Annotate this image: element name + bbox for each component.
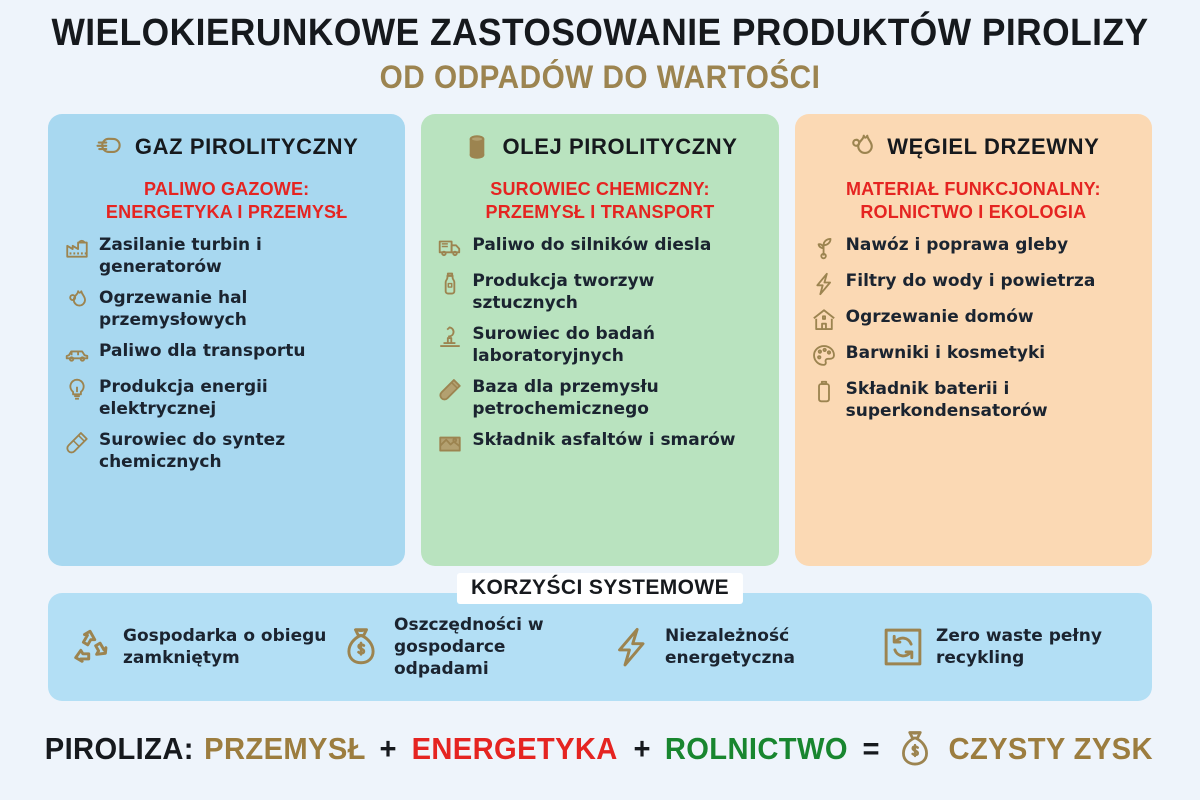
factory-icon xyxy=(64,235,90,261)
list-item[interactable]: Paliwo dla transportu xyxy=(64,340,389,367)
palette-icon xyxy=(811,343,837,369)
truck-icon xyxy=(437,235,463,261)
benefit-item[interactable]: Zero waste pełny recykling xyxy=(871,625,1142,669)
list-item[interactable]: Surowiec do syntez chemicznych xyxy=(64,429,389,473)
list-item[interactable]: Zasilanie turbin i generatorów xyxy=(64,234,389,278)
list-item-label: Ogrzewanie domów xyxy=(846,306,1034,328)
list-item[interactable]: Filtry do wody i powietrza xyxy=(811,270,1136,297)
card-item-list: Zasilanie turbin i generatorów Ogrzewani… xyxy=(64,234,389,473)
footer-result: CZYSTY ZYSK xyxy=(949,731,1153,767)
list-item-label: Składnik baterii i superkondensatorów xyxy=(846,378,1136,422)
list-item[interactable]: Składnik asfaltów i smarów xyxy=(437,429,762,456)
list-item[interactable]: Nawóz i poprawa gleby xyxy=(811,234,1136,261)
list-item-label: Zasilanie turbin i generatorów xyxy=(99,234,389,278)
gas-cloud-icon xyxy=(95,132,125,162)
card-subtitle-line1: SUROWIEC CHEMICZNY: xyxy=(490,179,709,199)
footer-equals: = xyxy=(855,731,887,767)
card-item-list: Nawóz i poprawa gleby Filtry do wody i p… xyxy=(811,234,1136,422)
lightbulb-icon xyxy=(64,377,90,403)
test-tube-icon xyxy=(437,377,463,403)
footer-term-rolnictwo: ROLNICTWO xyxy=(665,731,848,767)
list-item-label: Produkcja tworzyw sztucznych xyxy=(472,270,762,314)
benefits-label: KORZYŚCI SYSTEMOWE xyxy=(457,573,743,604)
refresh-box-icon xyxy=(881,625,925,669)
list-item-label: Nawóz i poprawa gleby xyxy=(846,234,1068,256)
footer-term-energetyka: ENERGETYKA xyxy=(412,731,618,767)
card-wegiel-drzewny[interactable]: WĘGIEL DRZEWNY MATERIAŁ FUNKCJONALNY: RO… xyxy=(795,114,1152,566)
card-title: GAZ PIROLITYCZNY xyxy=(135,134,359,160)
oil-drum-icon xyxy=(462,132,492,162)
recycle-icon xyxy=(68,625,112,669)
card-title: OLEJ PIROLITYCZNY xyxy=(502,134,737,160)
page-title: WIELOKIERUNKOWE ZASTOSOWANIE PRODUKTÓW P… xyxy=(42,12,1158,54)
benefit-label: Oszczędności w gospodarce odpadami xyxy=(394,614,600,680)
page-subtitle: OD ODPADÓW DO WARTOŚCI xyxy=(42,58,1158,96)
list-item-label: Baza dla przemysłu petrochemicznego xyxy=(472,376,762,420)
list-item-label: Filtry do wody i powietrza xyxy=(846,270,1096,292)
benefit-label: Zero waste pełny recykling xyxy=(936,625,1142,669)
title-block: WIELOKIERUNKOWE ZASTOSOWANIE PRODUKTÓW P… xyxy=(0,12,1200,96)
bottle-icon xyxy=(437,271,463,297)
money-bag-icon xyxy=(339,625,383,669)
list-item[interactable]: Surowiec do badań laboratoryjnych xyxy=(437,323,762,367)
road-icon xyxy=(437,430,463,456)
card-header: OLEJ PIROLITYCZNY xyxy=(437,132,762,162)
battery-icon xyxy=(811,379,837,405)
microscope-icon xyxy=(437,324,463,350)
card-subtitle-line1: MATERIAŁ FUNKCJONALNY: xyxy=(846,179,1101,199)
card-olej-pirolityczny[interactable]: OLEJ PIROLITYCZNY SUROWIEC CHEMICZNY: PR… xyxy=(421,114,778,566)
list-item-label: Barwniki i kosmetyki xyxy=(846,342,1045,364)
list-item[interactable]: Składnik baterii i superkondensatorów xyxy=(811,378,1136,422)
benefit-label: Niezależność energetyczna xyxy=(665,625,871,669)
infographic-root: WIELOKIERUNKOWE ZASTOSOWANIE PRODUKTÓW P… xyxy=(0,0,1200,800)
card-subtitle: MATERIAŁ FUNKCJONALNY: ROLNICTWO I EKOLO… xyxy=(811,178,1136,224)
card-subtitle-line2: PRZEMYSŁ I TRANSPORT xyxy=(437,201,762,224)
card-subtitle: SUROWIEC CHEMICZNY: PRZEMYSŁ I TRANSPORT xyxy=(437,178,762,224)
charcoal-flame-icon xyxy=(847,132,877,162)
footer-equation: PIROLIZA: PRZEMYSŁ + ENERGETYKA + ROLNIC… xyxy=(0,728,1200,770)
footer-lead: PIROLIZA: xyxy=(45,731,194,767)
money-bag-icon xyxy=(894,728,936,770)
footer-term-przemysl: PRZEMYSŁ xyxy=(204,731,366,767)
benefit-item[interactable]: Gospodarka o obiegu zamkniętym xyxy=(58,625,329,669)
house-icon xyxy=(811,307,837,333)
lightning-icon xyxy=(811,271,837,297)
list-item[interactable]: Produkcja energii elektrycznej xyxy=(64,376,389,420)
card-subtitle: PALIWO GAZOWE: ENERGETYKA I PRZEMYSŁ xyxy=(64,178,389,224)
list-item-label: Surowiec do badań laboratoryjnych xyxy=(472,323,762,367)
list-item[interactable]: Produkcja tworzyw sztucznych xyxy=(437,270,762,314)
list-item[interactable]: Barwniki i kosmetyki xyxy=(811,342,1136,369)
benefit-label: Gospodarka o obiegu zamkniętym xyxy=(123,625,329,669)
card-header: WĘGIEL DRZEWNY xyxy=(811,132,1136,162)
card-subtitle-line1: PALIWO GAZOWE: xyxy=(144,179,309,199)
list-item-label: Składnik asfaltów i smarów xyxy=(472,429,735,451)
list-item-label: Paliwo do silników diesla xyxy=(472,234,711,256)
list-item-label: Paliwo dla transportu xyxy=(99,340,305,362)
list-item[interactable]: Ogrzewanie hal przemysłowych xyxy=(64,287,389,331)
test-tube-icon xyxy=(64,430,90,456)
card-item-list: Paliwo do silników diesla Produkcja twor… xyxy=(437,234,762,456)
card-gaz-pirolityczny[interactable]: GAZ PIROLITYCZNY PALIWO GAZOWE: ENERGETY… xyxy=(48,114,405,566)
footer-plus-1: + xyxy=(372,731,404,767)
list-item-label: Ogrzewanie hal przemysłowych xyxy=(99,287,389,331)
product-cards: GAZ PIROLITYCZNY PALIWO GAZOWE: ENERGETY… xyxy=(48,114,1152,566)
car-icon xyxy=(64,341,90,367)
list-item-label: Surowiec do syntez chemicznych xyxy=(99,429,389,473)
benefits-section: KORZYŚCI SYSTEMOWE Gospodarka o obiegu z… xyxy=(48,593,1152,701)
footer-plus-2: + xyxy=(626,731,658,767)
list-item[interactable]: Paliwo do silników diesla xyxy=(437,234,762,261)
bolt-icon xyxy=(610,625,654,669)
card-header: GAZ PIROLITYCZNY xyxy=(64,132,389,162)
sprout-icon xyxy=(811,235,837,261)
card-subtitle-line2: ROLNICTWO I EKOLOGIA xyxy=(811,201,1136,224)
list-item[interactable]: Baza dla przemysłu petrochemicznego xyxy=(437,376,762,420)
flame-icon xyxy=(64,288,90,314)
card-title: WĘGIEL DRZEWNY xyxy=(887,134,1099,160)
benefit-item[interactable]: Oszczędności w gospodarce odpadami xyxy=(329,614,600,680)
list-item-label: Produkcja energii elektrycznej xyxy=(99,376,389,420)
list-item[interactable]: Ogrzewanie domów xyxy=(811,306,1136,333)
benefit-item[interactable]: Niezależność energetyczna xyxy=(600,625,871,669)
benefits-panel: Gospodarka o obiegu zamkniętym Oszczędno… xyxy=(48,593,1152,701)
card-subtitle-line2: ENERGETYKA I PRZEMYSŁ xyxy=(64,201,389,224)
